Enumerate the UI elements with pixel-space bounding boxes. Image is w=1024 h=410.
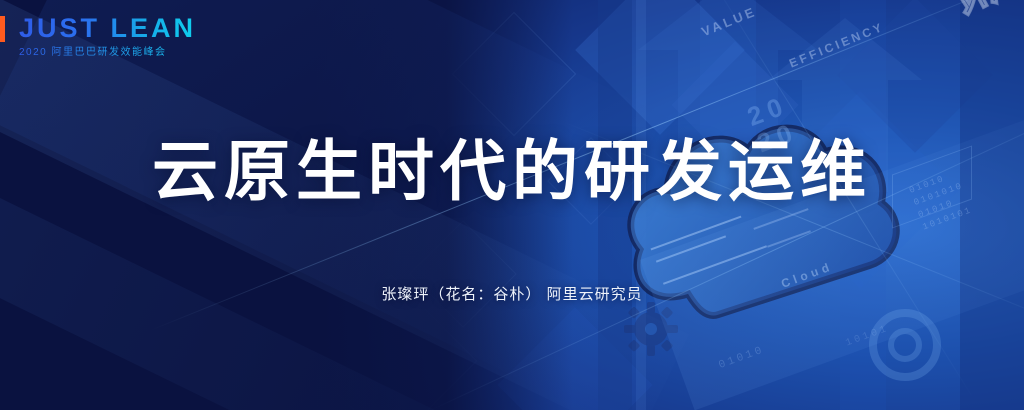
gear-icon	[622, 300, 680, 363]
orange-accent-bar	[0, 16, 5, 42]
speaker-byline: 张璨玶（花名：谷朴） 阿里云研究员	[0, 283, 1024, 304]
gear-icon	[860, 300, 950, 395]
event-logo: JUST LEAN 2020 阿里巴巴研发效能峰会	[0, 14, 196, 59]
page-title: 云原生时代的研发运维	[0, 132, 1024, 210]
event-logo-title: JUST LEAN	[19, 14, 196, 43]
event-logo-subtitle: 2020 阿里巴巴研发效能峰会	[19, 46, 196, 59]
conference-banner: 01010 0101010 01010 1010101 01010 10101 …	[0, 0, 1024, 410]
event-logo-text: JUST LEAN 2020 阿里巴巴研发效能峰会	[19, 14, 196, 59]
